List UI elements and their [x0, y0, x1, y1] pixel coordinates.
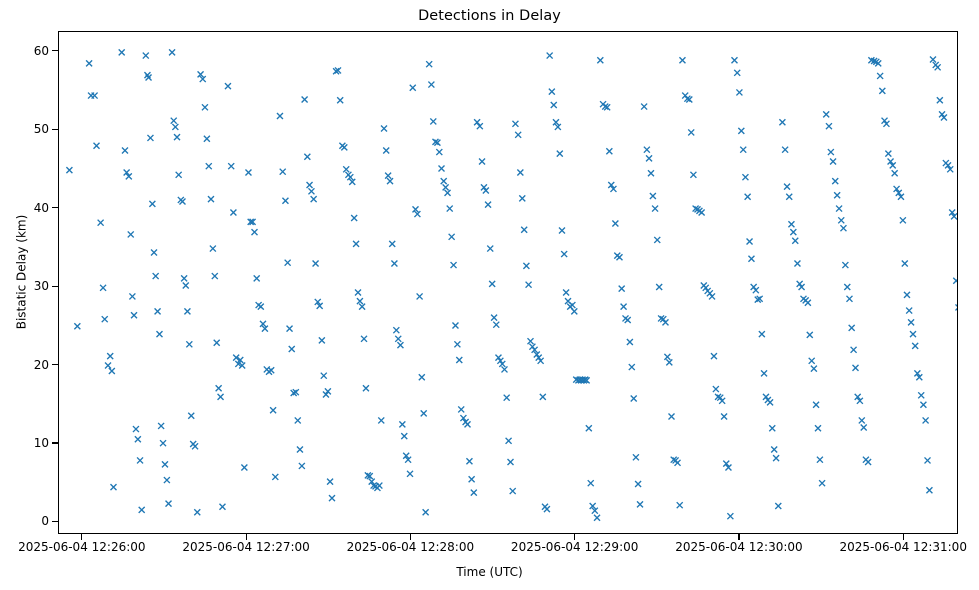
x-tick-label: 2025-06-04 12:29:00 — [511, 540, 638, 554]
y-tick-label: 50 — [34, 122, 49, 136]
y-tick-mark — [52, 286, 58, 287]
y-tick-mark — [52, 50, 58, 51]
x-tick-label: 2025-06-04 12:26:00 — [18, 540, 145, 554]
y-tick-mark — [52, 207, 58, 208]
y-tick-mark — [52, 364, 58, 365]
y-tick-label: 0 — [41, 514, 49, 528]
y-tick-label: 10 — [34, 436, 49, 450]
chart-title: Detections in Delay — [0, 8, 979, 24]
y-tick-label: 20 — [34, 358, 49, 372]
y-axis-label: Bistatic Delay (km) — [15, 21, 29, 524]
plot-area — [59, 32, 957, 533]
x-tick-label: 2025-06-04 12:27:00 — [182, 540, 309, 554]
scatter-markers — [59, 32, 957, 533]
y-tick-mark — [52, 129, 58, 130]
y-tick-mark — [52, 521, 58, 522]
y-tick-mark — [52, 442, 58, 443]
y-tick-label: 40 — [34, 201, 49, 215]
x-tick-label: 2025-06-04 12:30:00 — [675, 540, 802, 554]
plot-axes — [58, 31, 958, 534]
x-tick-label: 2025-06-04 12:31:00 — [840, 540, 967, 554]
y-tick-label: 60 — [34, 44, 49, 58]
x-tick-label: 2025-06-04 12:28:00 — [347, 540, 474, 554]
y-tick-label: 30 — [34, 279, 49, 293]
scatter-chart-figure: Detections in Delay 0102030405060 2025-0… — [0, 0, 979, 590]
x-axis-label: Time (UTC) — [0, 565, 979, 579]
